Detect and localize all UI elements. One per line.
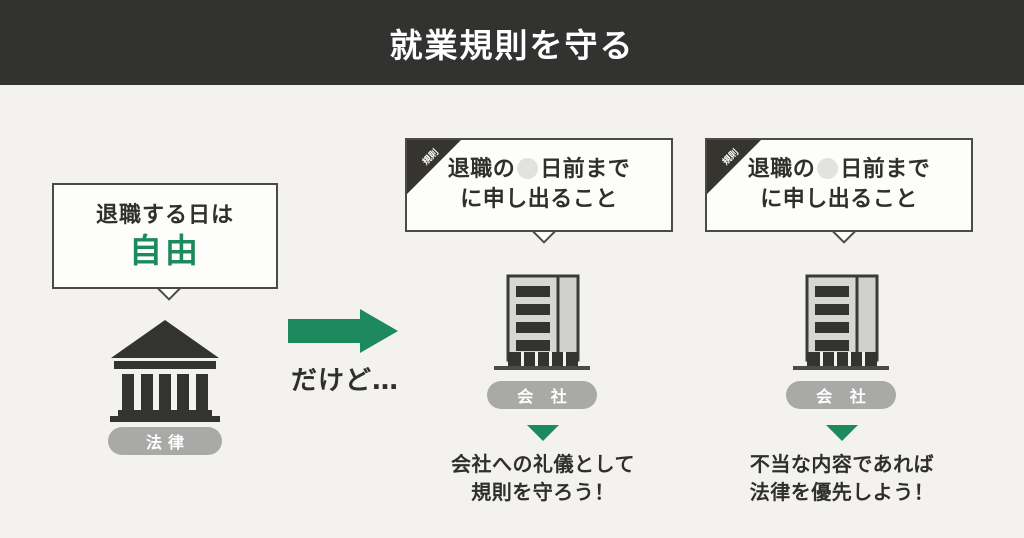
rule-speech-bubble-2: 退職の日前まで に申し出ること 規則	[705, 138, 973, 232]
conclusion-text-2: 不当な内容であれば 法律を優先しよう！	[692, 450, 992, 506]
rule-bubble-line-1: 退職の日前まで	[448, 155, 631, 185]
speech-bubble-tail	[827, 232, 857, 251]
courthouse-icon	[108, 318, 222, 422]
rule-speech-bubble-1: 退職の日前まで に申し出ること 規則	[405, 138, 673, 232]
rule-bubble-line-2: に申し出ること	[448, 185, 631, 215]
law-bubble-line-2: 自由	[129, 232, 201, 270]
rule-bubble-line-1: 退職の日前まで	[748, 155, 931, 185]
law-label-pill: 法律	[108, 427, 222, 455]
rule-ribbon-label-2: 規則	[710, 140, 750, 177]
conclusion-2-line-1: 不当な内容であれば	[692, 450, 992, 478]
conclusion-text-1: 会社への礼儀として 規則を守ろう！	[393, 450, 693, 506]
rule-corner-ribbon-1: 規則	[407, 140, 461, 194]
rule-line-1-tail: 日前まで	[840, 157, 930, 182]
transition-caption: だけど…	[270, 360, 420, 397]
conclusion-2-line-2: 法律を優先しよう！	[692, 478, 992, 506]
rule-bubble-line-2: に申し出ること	[748, 185, 931, 215]
rule-bubble-copy-1: 退職の日前まで に申し出ること	[438, 155, 641, 214]
page-title: 就業規則を守る	[0, 0, 1024, 85]
law-speech-bubble: 退職する日は 自由	[52, 183, 278, 289]
blank-circle-placeholder	[517, 158, 538, 179]
law-bubble-line-1: 退職する日は	[96, 202, 234, 230]
company-label-pill-2: 会 社	[786, 381, 896, 409]
rule-bubble-copy-2: 退職の日前まで に申し出ること	[738, 155, 941, 214]
rule-line-1-tail: 日前まで	[540, 157, 630, 182]
law-bubble-text: 退職する日は 自由	[54, 185, 276, 287]
rule-corner-ribbon-2: 規則	[707, 140, 761, 194]
office-building-icon-1	[490, 268, 594, 374]
conclusion-1-line-1: 会社への礼儀として	[393, 450, 693, 478]
down-triangle-icon-1	[527, 425, 559, 441]
down-triangle-icon-2	[826, 425, 858, 441]
company-label-pill-1: 会 社	[487, 381, 597, 409]
blank-circle-placeholder	[817, 158, 838, 179]
rule-ribbon-label-1: 規則	[410, 140, 450, 177]
office-building-icon-2	[789, 268, 893, 374]
speech-bubble-tail	[527, 232, 557, 251]
speech-bubble-tail	[152, 289, 182, 308]
infographic-canvas: 就業規則を守る 退職する日は 自由 法律 だけど…	[0, 0, 1024, 538]
conclusion-1-line-2: 規則を守ろう！	[393, 478, 693, 506]
green-right-arrow-icon	[288, 309, 398, 353]
